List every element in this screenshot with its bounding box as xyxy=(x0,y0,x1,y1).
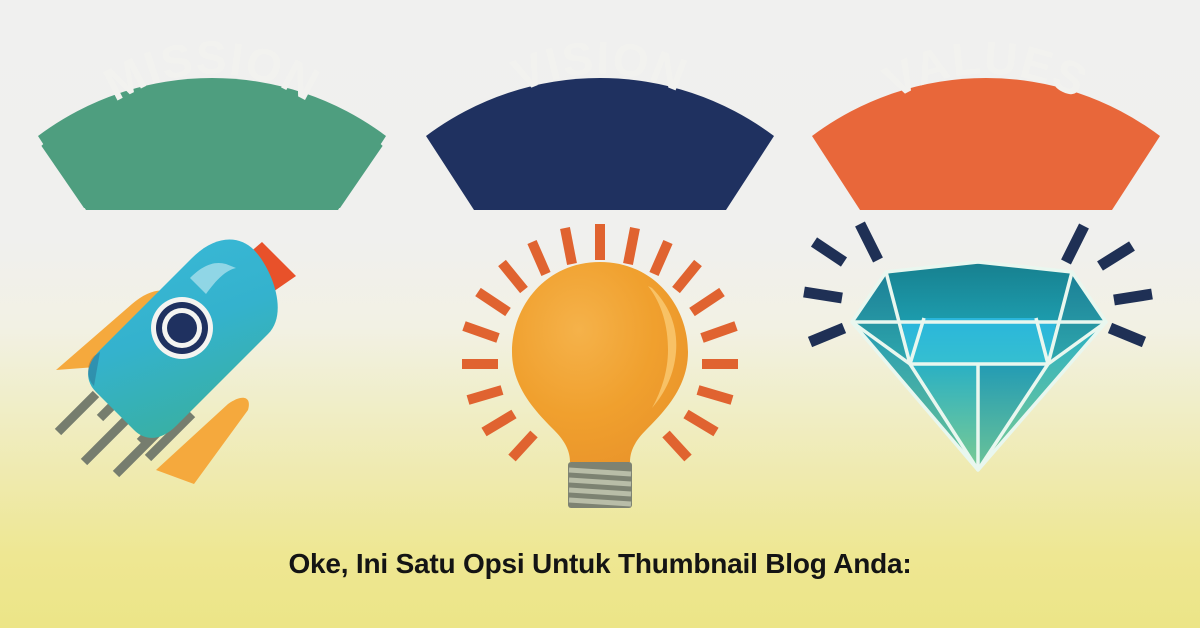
lightbulb-icon xyxy=(420,218,780,508)
rocket-porthole-glass xyxy=(167,313,197,343)
diamond-icon xyxy=(800,218,1160,508)
banner-vision: VISION xyxy=(420,58,780,208)
banner-arc-mission xyxy=(38,78,386,210)
banner-arc-values xyxy=(812,78,1160,210)
bulb-glass xyxy=(512,262,688,462)
rocket-icon xyxy=(40,218,400,508)
thumbnail-graphic: MISSION VISION xyxy=(0,0,1200,628)
banner-row: MISSION VISION xyxy=(0,0,1200,215)
bulb-base xyxy=(568,462,632,508)
diamond-facet-center xyxy=(910,318,1048,364)
banner-mission: MISSION xyxy=(32,58,392,208)
banner-arc-vision xyxy=(426,78,774,210)
caption-text: Oke, Ini Satu Opsi Untuk Thumbnail Blog … xyxy=(0,548,1200,580)
banner-values: VALUES xyxy=(806,58,1166,208)
